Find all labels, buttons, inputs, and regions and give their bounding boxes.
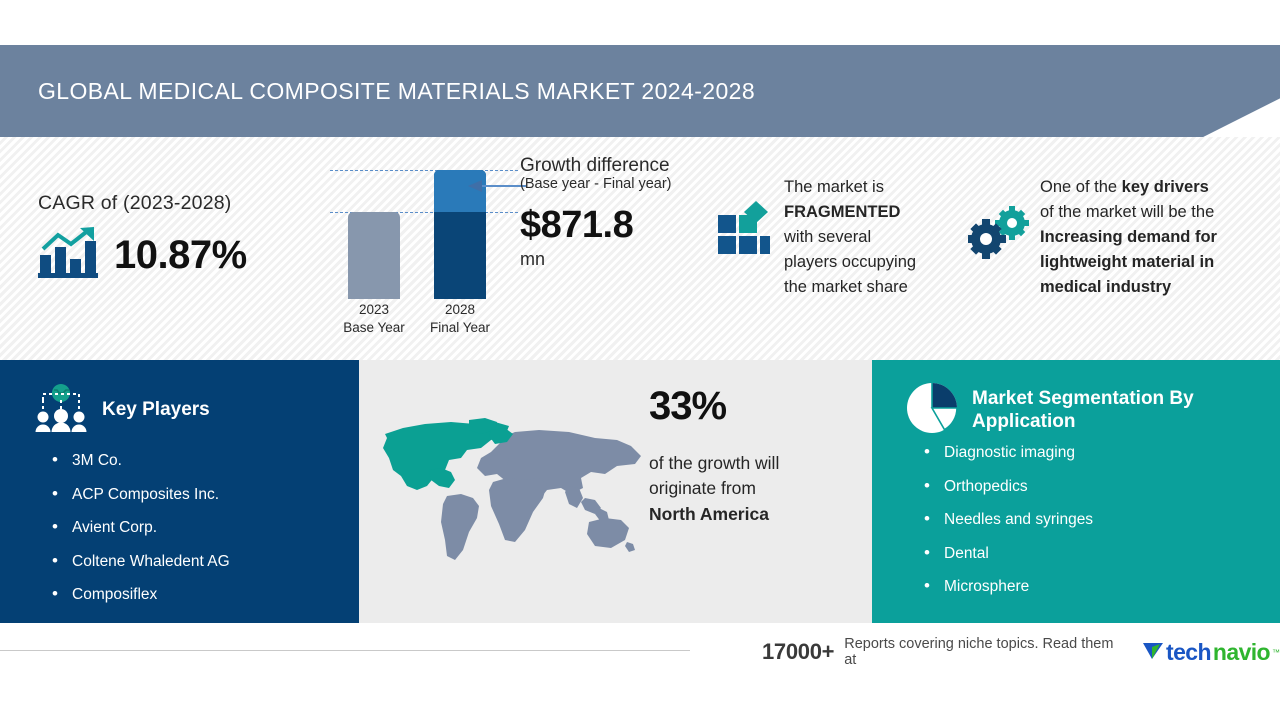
region-panel: 33% of the growth will originate from No… [359, 360, 872, 623]
list-item: Orthopedics [924, 479, 1280, 495]
fragmentation-text: The market is FRAGMENTED with several pl… [784, 175, 916, 300]
segmentation-header: Market Segmentation By Application [872, 360, 1280, 439]
list-item: 3M Co. [52, 453, 359, 469]
bar-2023-sublabel: Base Year [343, 320, 405, 335]
region-name: North America [649, 504, 769, 524]
key-driver-text: One of the key drivers of the market wil… [1040, 175, 1255, 300]
list-item: Microsphere [924, 579, 1280, 595]
fragmentation-emphasis: FRAGMENTED [784, 203, 900, 221]
bar-2023 [348, 212, 400, 299]
growth-difference-arrow-icon [468, 179, 528, 198]
reports-count: 17000+ [762, 639, 834, 665]
squares-fragmented-icon [718, 201, 770, 300]
page-title: GLOBAL MEDICAL COMPOSITE MATERIALS MARKE… [0, 78, 755, 105]
fragmentation-line1: The market is [784, 178, 884, 196]
footer: 17000+ Reports covering niche topics. Re… [0, 623, 1280, 720]
growth-difference-block: Growth difference (Base year - Final yea… [520, 155, 710, 270]
key-driver-line2: of the market will be the [1040, 203, 1214, 221]
region-stat: 33% of the growth will originate from No… [649, 384, 779, 527]
growth-difference-heading: Growth difference [520, 155, 710, 176]
header-banner: GLOBAL MEDICAL COMPOSITE MATERIALS MARKE… [0, 45, 1280, 137]
list-item: Dental [924, 546, 1280, 562]
bar-2028-year: 2028 [445, 302, 475, 317]
bar-2028-sublabel: Final Year [430, 320, 490, 335]
key-players-list: 3M Co. ACP Composites Inc. Avient Corp. … [52, 453, 359, 603]
list-item: Composiflex [52, 587, 359, 603]
segmentation-panel: Market Segmentation By Application Diagn… [872, 360, 1280, 623]
gears-icon [968, 205, 1030, 300]
panels-row: Key Players 3M Co. ACP Composites Inc. A… [0, 360, 1280, 623]
bar-2023-caption: 2023 Base Year [324, 301, 424, 337]
bar-chart-growth-icon [38, 227, 100, 284]
list-item: Needles and syringes [924, 512, 1280, 528]
logo-text-tech: tech [1166, 639, 1211, 666]
list-item: Coltene Whaledent AG [52, 554, 359, 570]
list-item: ACP Composites Inc. [52, 487, 359, 503]
fragmentation-line3: players occupying [784, 253, 916, 271]
growth-difference-value: $871.8 [520, 204, 710, 247]
guide-line-top [330, 170, 518, 171]
key-players-header: Key Players [0, 360, 359, 439]
list-item: Diagnostic imaging [924, 445, 1280, 461]
key-players-panel: Key Players 3M Co. ACP Composites Inc. A… [0, 360, 359, 623]
segmentation-list: Diagnostic imaging Orthopedics Needles a… [924, 445, 1280, 595]
footer-content: 17000+ Reports covering niche topics. Re… [690, 635, 1280, 669]
world-map-icon [373, 412, 653, 577]
key-driver-line1-prefix: One of the [1040, 178, 1122, 196]
technavio-mark-icon [1142, 639, 1164, 666]
key-driver-block: One of the key drivers of the market wil… [968, 175, 1255, 300]
fragmentation-line4: the market share [784, 278, 908, 296]
fragmentation-line2: with several [784, 228, 871, 246]
stats-band: CAGR of (2023-2028) 10.87% [0, 137, 1280, 360]
logo-trademark: ™ [1272, 648, 1280, 657]
region-text-line1: of the growth will [649, 453, 779, 473]
region-text-line2: originate from [649, 478, 756, 498]
growth-difference-subheading: (Base year - Final year) [520, 176, 710, 192]
cagr-label: CAGR of (2023-2028) [38, 192, 328, 215]
cagr-value: 10.87% [114, 233, 247, 278]
bar-2028-caption: 2028 Final Year [410, 301, 510, 337]
fragmentation-block: The market is FRAGMENTED with several pl… [718, 175, 916, 300]
pie-chart-icon [906, 382, 958, 439]
footer-tagline: Reports covering niche topics. Read them… [844, 636, 1120, 668]
list-item: Avient Corp. [52, 520, 359, 536]
segmentation-title: Market Segmentation By Application [972, 388, 1280, 433]
growth-difference-unit: mn [520, 249, 710, 270]
technavio-logo[interactable]: technavio™ [1142, 639, 1280, 666]
bar-2023-year: 2023 [359, 302, 389, 317]
key-driver-line1-bold: key drivers [1122, 178, 1209, 196]
key-driver-bold-block: Increasing demand for lightweight materi… [1040, 228, 1217, 296]
region-description: of the growth will originate from North … [649, 451, 779, 527]
cagr-block: CAGR of (2023-2028) 10.87% [38, 192, 328, 284]
globe-network-people-icon [34, 382, 88, 439]
logo-text-navio: navio [1213, 639, 1270, 666]
key-players-title: Key Players [102, 399, 210, 421]
infographic-page: GLOBAL MEDICAL COMPOSITE MATERIALS MARKE… [0, 0, 1280, 720]
region-percent: 33% [649, 384, 779, 429]
